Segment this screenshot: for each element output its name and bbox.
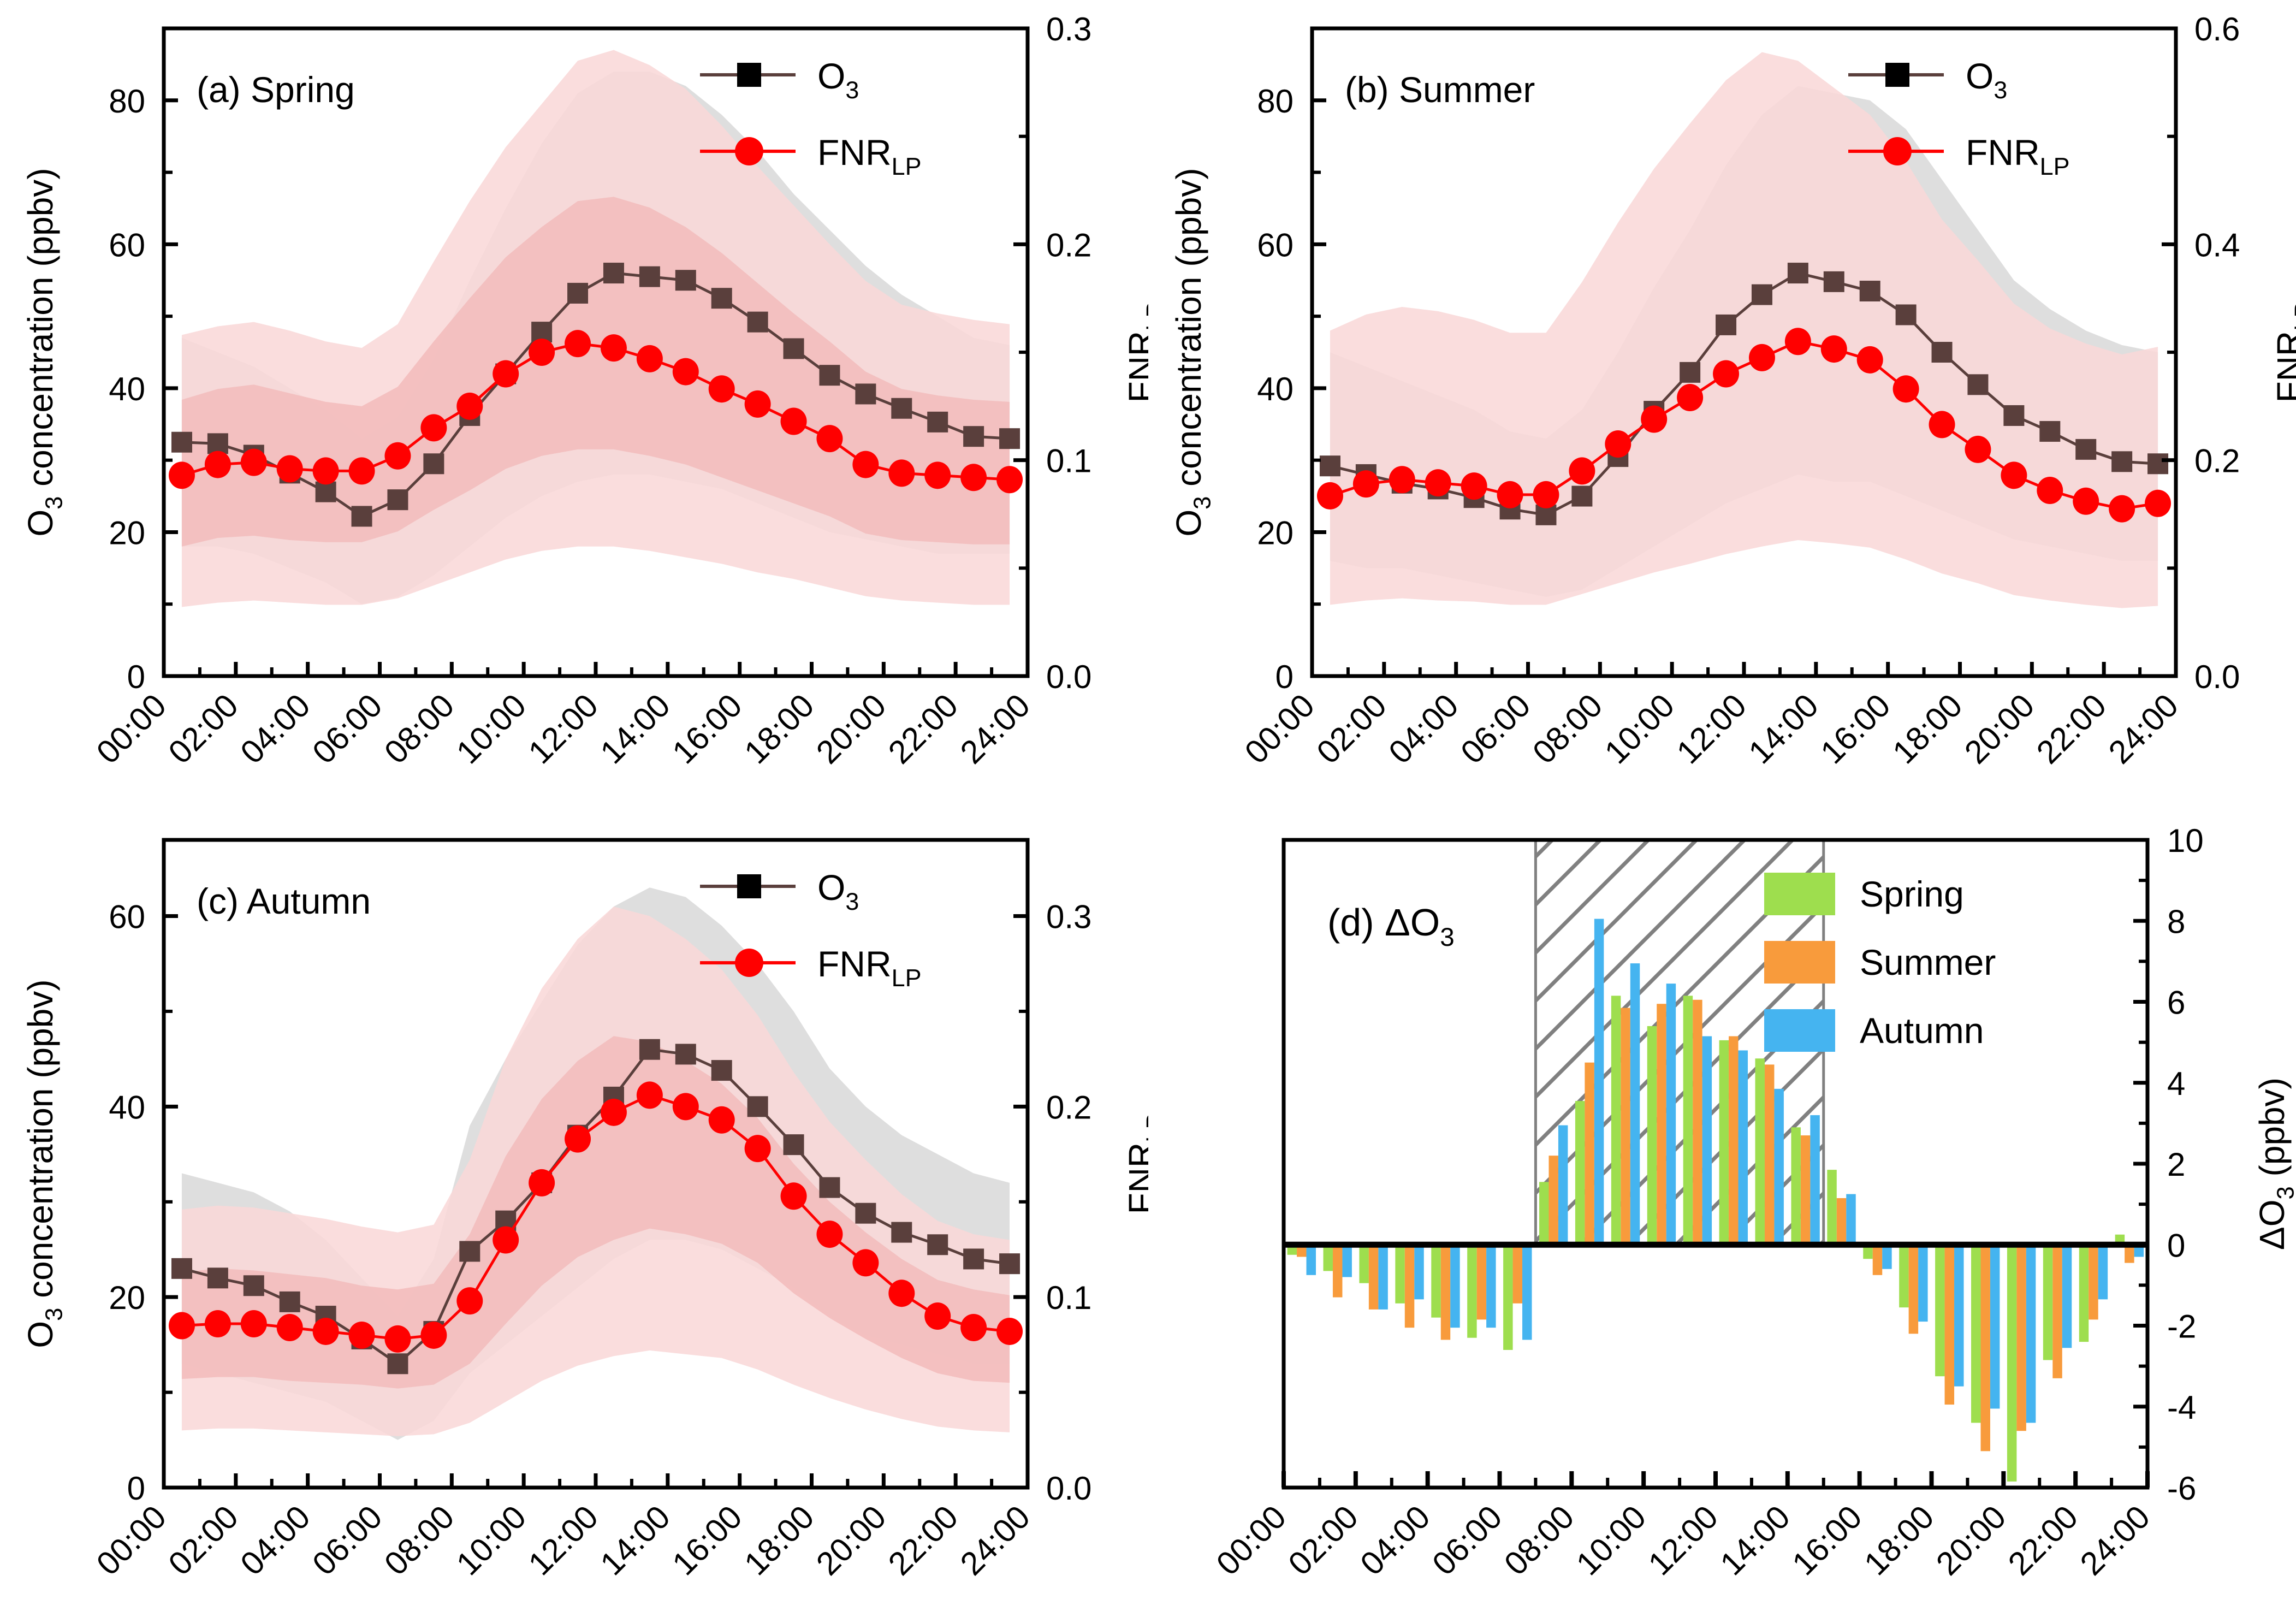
- xtick-label: 08:00: [1497, 1498, 1581, 1583]
- xtick-label: 04:00: [233, 687, 317, 771]
- xtick-label: 02:00: [161, 1498, 245, 1583]
- ytick-label-right: -2: [2167, 1308, 2196, 1345]
- marker-fnr: [205, 451, 231, 478]
- ytick-label-left: 60: [109, 899, 145, 935]
- bar-summer: [1801, 1135, 1810, 1245]
- y-axis-label-left: O3 concentration (ppbv): [1169, 168, 1215, 536]
- bar-autumn: [1378, 1245, 1387, 1310]
- bar-spring: [1791, 1127, 1800, 1245]
- bar-summer: [1657, 1004, 1666, 1245]
- xtick-label: 10:00: [449, 1498, 533, 1583]
- bar-spring: [2007, 1245, 2016, 1482]
- marker-fnr: [169, 461, 195, 489]
- xtick-label: 10:00: [1569, 1498, 1653, 1583]
- marker-fnr: [888, 1280, 915, 1307]
- bar-autumn: [1846, 1194, 1855, 1245]
- ytick-label-right: 0.3: [1046, 899, 1091, 935]
- marker-fnr: [996, 1318, 1023, 1345]
- bar-autumn: [1342, 1245, 1351, 1277]
- marker-o3: [1680, 362, 1700, 383]
- marker-o3: [1788, 263, 1808, 283]
- marker-fnr: [2073, 488, 2099, 515]
- marker-fnr: [601, 1099, 627, 1126]
- chart-a: 0204060800.00.10.20.300:0002:0004:0006:0…: [0, 0, 1148, 811]
- marker-fnr: [1353, 470, 1379, 497]
- marker-o3: [423, 453, 444, 474]
- xtick-label: 20:00: [1957, 687, 2042, 771]
- legend-swatch-spring: [1764, 873, 1835, 915]
- marker-o3: [280, 1292, 300, 1312]
- legend-marker-fnr: [735, 949, 763, 977]
- xtick-label: 18:00: [737, 687, 821, 771]
- xtick-label: 04:00: [233, 1498, 317, 1583]
- marker-fnr: [565, 330, 591, 357]
- marker-fnr: [493, 1227, 519, 1254]
- marker-o3: [1320, 455, 1340, 476]
- xtick-label: 12:00: [1670, 687, 1754, 771]
- chart-c: 02040600.00.10.20.300:0002:0004:0006:000…: [0, 811, 1148, 1623]
- marker-o3: [855, 1203, 876, 1224]
- bar-autumn: [1630, 963, 1640, 1245]
- panel-title: (c) Autumn: [197, 881, 371, 921]
- bar-summer: [1729, 1036, 1738, 1245]
- bar-autumn: [1486, 1245, 1496, 1328]
- marker-fnr: [1389, 466, 1415, 493]
- panel-delta-o3: -6-4-2024681000:0002:0004:0006:0008:0010…: [1148, 811, 2296, 1623]
- marker-o3: [1932, 342, 1953, 363]
- y-axis-label-left: O3 concentration (ppbv): [21, 979, 67, 1348]
- ytick-label-left: 40: [109, 1089, 145, 1126]
- marker-o3: [747, 1096, 768, 1117]
- marker-fnr: [888, 459, 915, 487]
- legend-label-fnr: FNRLP: [1966, 132, 2070, 180]
- legend-label-summer: Summer: [1860, 942, 1996, 982]
- bar-autumn: [1810, 1115, 1819, 1245]
- marker-o3: [207, 1267, 228, 1288]
- marker-o3: [711, 1060, 732, 1081]
- bar-autumn: [1414, 1245, 1423, 1299]
- xtick-label: 16:00: [1785, 1498, 1869, 1583]
- marker-fnr: [1425, 469, 1451, 496]
- bar-summer: [1441, 1245, 1450, 1340]
- ytick-label-right: 0.4: [2194, 227, 2240, 263]
- xtick-label: 22:00: [2001, 1498, 2085, 1583]
- xtick-label: 02:00: [1309, 687, 1393, 771]
- bar-summer: [1980, 1245, 1990, 1451]
- bar-summer: [1369, 1245, 1378, 1310]
- bar-summer: [1513, 1245, 1522, 1303]
- bar-summer: [1405, 1245, 1414, 1328]
- xtick-label: 20:00: [809, 1498, 893, 1583]
- marker-fnr: [2145, 490, 2171, 517]
- bar-spring: [2043, 1245, 2052, 1360]
- bar-autumn: [2062, 1245, 2072, 1348]
- marker-fnr: [781, 1182, 807, 1210]
- ytick-label-left: 40: [1257, 371, 1294, 407]
- xtick-label: 18:00: [1857, 1498, 1941, 1583]
- xtick-label: 04:00: [1381, 687, 1466, 771]
- marker-fnr: [996, 466, 1023, 493]
- marker-o3: [819, 1177, 840, 1198]
- legend-label-o3: O3: [1966, 56, 2007, 104]
- marker-o3: [891, 398, 912, 419]
- marker-fnr: [2037, 477, 2063, 504]
- marker-fnr: [1677, 384, 1703, 411]
- xtick-label: 22:00: [881, 1498, 965, 1583]
- y-axis-label-right: ΔO3 (ppbv): [2252, 1077, 2296, 1250]
- legend-marker-o3: [737, 874, 761, 898]
- marker-o3: [784, 1134, 804, 1155]
- xtick-label: 06:00: [305, 687, 389, 771]
- bar-spring: [1827, 1170, 1836, 1245]
- marker-o3: [2003, 405, 2024, 426]
- ytick-label-left: 40: [109, 371, 145, 407]
- marker-fnr: [349, 1322, 375, 1349]
- marker-fnr: [960, 464, 987, 491]
- bar-autumn: [2026, 1245, 2036, 1423]
- ytick-label-right: 0.0: [2194, 659, 2240, 695]
- marker-o3: [1967, 374, 1988, 395]
- ytick-label-right: 10: [2167, 822, 2204, 859]
- xtick-label: 24:00: [953, 687, 1037, 771]
- marker-o3: [675, 270, 696, 291]
- legend-label-o3: O3: [817, 867, 859, 915]
- xtick-label: 12:00: [1641, 1498, 1725, 1583]
- legend-label-o3: O3: [817, 56, 859, 104]
- panel-title: (a) Spring: [197, 69, 355, 110]
- marker-fnr: [673, 1093, 699, 1120]
- marker-o3: [1896, 304, 1917, 325]
- marker-fnr: [565, 1126, 591, 1153]
- marker-fnr: [924, 1302, 951, 1330]
- xtick-label: 12:00: [521, 1498, 606, 1583]
- xtick-label: 04:00: [1353, 1498, 1437, 1583]
- marker-o3: [1716, 315, 1736, 335]
- panel-spring: 0204060800.00.10.20.300:0002:0004:0006:0…: [0, 0, 1148, 811]
- xtick-label: 20:00: [809, 687, 893, 771]
- bar-spring: [1755, 1058, 1765, 1245]
- panel-title: (b) Summer: [1345, 69, 1535, 110]
- xtick-label: 16:00: [665, 687, 749, 771]
- legend-marker-o3: [737, 63, 761, 87]
- xtick-label: 06:00: [1425, 1498, 1509, 1583]
- xtick-label: 14:00: [593, 687, 677, 771]
- legend-marker-o3: [1885, 63, 1909, 87]
- bar-summer: [1945, 1245, 1954, 1405]
- bar-summer: [2089, 1245, 2098, 1319]
- marker-o3: [171, 432, 192, 453]
- legend-label-autumn: Autumn: [1860, 1010, 1984, 1051]
- xtick-label: 16:00: [665, 1498, 749, 1583]
- bar-autumn: [1990, 1245, 2000, 1408]
- marker-o3: [927, 412, 948, 433]
- legend-label-fnr: FNRLP: [817, 944, 922, 992]
- ytick-label-right: -4: [2167, 1389, 2196, 1426]
- marker-o3: [784, 338, 804, 359]
- marker-fnr: [1749, 344, 1775, 371]
- bar-spring: [1683, 996, 1693, 1245]
- xtick-label: 18:00: [1885, 687, 1969, 771]
- ytick-label-left: 80: [109, 83, 145, 120]
- bar-autumn: [1522, 1245, 1532, 1340]
- xtick-label: 12:00: [521, 687, 606, 771]
- bar-spring: [1935, 1245, 1944, 1376]
- marker-o3: [639, 266, 660, 287]
- ytick-label-left: 20: [1257, 514, 1294, 551]
- marker-o3: [459, 1241, 480, 1261]
- marker-fnr: [1893, 375, 1919, 402]
- legend-marker-fnr: [735, 137, 763, 165]
- marker-fnr: [960, 1314, 987, 1341]
- xtick-label: 22:00: [2030, 687, 2114, 771]
- marker-fnr: [1497, 481, 1523, 508]
- marker-o3: [244, 1275, 264, 1296]
- marker-o3: [963, 1248, 984, 1269]
- marker-fnr: [852, 451, 879, 478]
- marker-o3: [2075, 439, 2096, 460]
- marker-o3: [1752, 285, 1772, 305]
- bar-spring: [1503, 1245, 1512, 1350]
- ytick-label-left: 0: [127, 659, 145, 695]
- bar-spring: [1611, 996, 1621, 1245]
- marker-fnr: [349, 457, 375, 484]
- marker-fnr: [852, 1249, 879, 1276]
- bar-summer: [1333, 1245, 1342, 1297]
- marker-fnr: [1785, 328, 1811, 355]
- bar-autumn: [1450, 1245, 1460, 1328]
- marker-fnr: [420, 1322, 447, 1349]
- xtick-label: 10:00: [449, 687, 533, 771]
- marker-fnr: [277, 1314, 303, 1341]
- marker-fnr: [816, 1221, 843, 1248]
- bar-autumn: [1594, 919, 1604, 1245]
- marker-fnr: [709, 1106, 735, 1134]
- marker-fnr: [1857, 346, 1883, 374]
- ytick-label-left: 0: [1275, 659, 1294, 695]
- marker-fnr: [420, 414, 447, 441]
- xtick-label: 24:00: [2073, 1498, 2157, 1583]
- xtick-label: 18:00: [737, 1498, 821, 1583]
- bar-summer: [1765, 1064, 1774, 1245]
- legend-swatch-autumn: [1764, 1009, 1835, 1052]
- xtick-label: 08:00: [1526, 687, 1610, 771]
- y-axis-label-right: FNRLP: [1122, 302, 1148, 403]
- ytick-label-right: 0.2: [1046, 227, 1091, 263]
- marker-fnr: [1821, 335, 1847, 363]
- bar-autumn: [1954, 1245, 1963, 1386]
- marker-fnr: [1929, 411, 1955, 438]
- panel-title: (d) ΔO3: [1327, 901, 1455, 952]
- ytick-label-right: 0.6: [2194, 11, 2240, 48]
- ytick-label-right: 8: [2167, 903, 2185, 940]
- bar-spring: [1647, 1026, 1657, 1245]
- marker-fnr: [601, 334, 627, 362]
- marker-fnr: [313, 1318, 339, 1345]
- ytick-label-right: 0.1: [1046, 1280, 1091, 1316]
- ytick-label-left: 20: [109, 514, 145, 551]
- ytick-label-left: 60: [1257, 227, 1294, 263]
- marker-fnr: [1569, 457, 1595, 484]
- ytick-label-right: 4: [2167, 1065, 2185, 1102]
- marker-fnr: [1641, 406, 1667, 433]
- marker-o3: [963, 426, 984, 447]
- marker-o3: [819, 365, 840, 386]
- marker-fnr: [673, 358, 699, 386]
- bar-autumn: [1702, 1036, 1712, 1245]
- bar-spring: [1431, 1245, 1440, 1317]
- marker-fnr: [384, 442, 411, 470]
- xtick-label: 08:00: [377, 687, 461, 771]
- bar-spring: [1575, 1101, 1585, 1245]
- xtick-label: 08:00: [377, 1498, 461, 1583]
- bar-autumn: [1739, 1050, 1748, 1245]
- ytick-label-left: 20: [109, 1280, 145, 1316]
- bar-spring: [1467, 1245, 1476, 1337]
- bar-summer: [1477, 1245, 1486, 1319]
- bar-autumn: [1307, 1245, 1316, 1275]
- marker-fnr: [529, 1169, 555, 1196]
- bar-summer: [2052, 1245, 2062, 1378]
- bar-summer: [1549, 1156, 1558, 1245]
- xtick-label: 22:00: [881, 687, 965, 771]
- ytick-label-left: 80: [1257, 83, 1294, 120]
- ytick-label-right: 6: [2167, 985, 2185, 1021]
- marker-o3: [855, 383, 876, 404]
- bar-autumn: [1774, 1089, 1783, 1245]
- bar-spring: [1359, 1245, 1368, 1283]
- marker-o3: [1571, 486, 1592, 507]
- legend-label-fnr: FNRLP: [817, 132, 922, 180]
- xtick-label: 02:00: [161, 687, 245, 771]
- marker-fnr: [2001, 461, 2027, 489]
- marker-fnr: [493, 360, 519, 388]
- xtick-label: 14:00: [1713, 1498, 1797, 1583]
- marker-fnr: [1317, 482, 1343, 510]
- marker-o3: [171, 1258, 192, 1279]
- marker-o3: [567, 283, 588, 304]
- marker-fnr: [781, 408, 807, 435]
- marker-fnr: [1605, 430, 1631, 458]
- bar-autumn: [1666, 984, 1676, 1245]
- marker-o3: [603, 263, 624, 283]
- marker-fnr: [1713, 360, 1739, 388]
- panel-autumn: 02040600.00.10.20.300:0002:0004:0006:000…: [0, 811, 1148, 1623]
- marker-o3: [1824, 271, 1844, 292]
- bar-spring: [1899, 1245, 1908, 1307]
- marker-fnr: [637, 1081, 663, 1109]
- marker-fnr: [1965, 436, 1991, 463]
- ytick-label-right: 0.2: [2194, 443, 2240, 479]
- bar-summer: [1909, 1245, 1918, 1334]
- marker-fnr: [277, 455, 303, 482]
- marker-o3: [927, 1234, 948, 1255]
- ytick-label-right: 0.0: [1046, 659, 1091, 695]
- xtick-label: 00:00: [1238, 687, 1322, 771]
- bar-autumn: [1918, 1245, 1927, 1322]
- marker-fnr: [637, 345, 663, 372]
- bar-spring: [1971, 1245, 1980, 1423]
- bar-spring: [2079, 1245, 2089, 1342]
- marker-fnr: [456, 393, 483, 420]
- xtick-label: 06:00: [1453, 687, 1538, 771]
- xtick-label: 16:00: [1813, 687, 1897, 771]
- xtick-label: 14:00: [1741, 687, 1825, 771]
- marker-o3: [747, 312, 768, 333]
- marker-fnr: [816, 425, 843, 452]
- marker-fnr: [1461, 472, 1487, 500]
- legend-label-spring: Spring: [1860, 874, 1964, 914]
- marker-fnr: [745, 390, 771, 418]
- xtick-label: 20:00: [1929, 1498, 2013, 1583]
- bar-summer: [1621, 1008, 1630, 1245]
- bar-autumn: [1558, 1126, 1568, 1245]
- y-axis-label-right: FNRLP: [2270, 302, 2296, 403]
- marker-o3: [2111, 451, 2132, 472]
- bar-summer: [1693, 1000, 1702, 1245]
- xtick-label: 00:00: [1209, 1498, 1294, 1583]
- ytick-label-left: 0: [127, 1470, 145, 1507]
- chart-b: 0204060800.00.20.40.600:0002:0004:0006:0…: [1148, 0, 2296, 811]
- legend-marker-fnr: [1883, 137, 1912, 165]
- y-axis-label-right: FNRLP: [1122, 1113, 1148, 1215]
- panel-summer: 0204060800.00.20.40.600:0002:0004:0006:0…: [1148, 0, 2296, 811]
- marker-fnr: [169, 1312, 195, 1340]
- xtick-label: 24:00: [2102, 687, 2186, 771]
- marker-o3: [352, 506, 372, 526]
- marker-fnr: [241, 1310, 267, 1337]
- marker-fnr: [313, 457, 339, 484]
- marker-o3: [387, 1353, 408, 1374]
- marker-o3: [2039, 421, 2060, 442]
- xtick-label: 00:00: [90, 687, 174, 771]
- y-axis-label-left: O3 concentration (ppbv): [21, 168, 67, 536]
- xtick-label: 24:00: [953, 1498, 1037, 1583]
- marker-o3: [639, 1039, 660, 1060]
- ytick-label-right: -6: [2167, 1470, 2196, 1507]
- ytick-label-right: 0.2: [1046, 1089, 1091, 1126]
- ytick-label-right: 0.1: [1046, 443, 1091, 479]
- marker-o3: [999, 428, 1020, 449]
- marker-fnr: [2109, 495, 2135, 523]
- marker-fnr: [384, 1325, 411, 1353]
- marker-fnr: [205, 1310, 231, 1337]
- bar-spring: [1719, 1040, 1729, 1245]
- marker-o3: [387, 489, 408, 510]
- bar-spring: [1324, 1245, 1333, 1271]
- xtick-label: 02:00: [1281, 1498, 1365, 1583]
- xtick-label: 00:00: [90, 1498, 174, 1583]
- ytick-label-left: 60: [109, 227, 145, 263]
- bar-spring: [1395, 1245, 1404, 1303]
- bar-summer: [1837, 1198, 1846, 1245]
- xtick-label: 14:00: [593, 1498, 677, 1583]
- legend-swatch-summer: [1764, 941, 1835, 984]
- bar-summer: [1873, 1245, 1882, 1275]
- bar-summer: [1585, 1063, 1594, 1245]
- marker-o3: [891, 1222, 912, 1243]
- marker-o3: [2147, 453, 2168, 474]
- marker-o3: [711, 288, 732, 309]
- bar-spring: [1539, 1182, 1549, 1245]
- bar-autumn: [1882, 1245, 1891, 1269]
- ytick-label-right: 0.0: [1046, 1470, 1091, 1507]
- marker-o3: [999, 1253, 1020, 1274]
- figure-root: 0204060800.00.10.20.300:0002:0004:0006:0…: [0, 0, 2296, 1623]
- marker-fnr: [529, 339, 555, 366]
- marker-fnr: [241, 449, 267, 476]
- marker-o3: [675, 1044, 696, 1064]
- chart-d: -6-4-2024681000:0002:0004:0006:0008:0010…: [1148, 811, 2296, 1623]
